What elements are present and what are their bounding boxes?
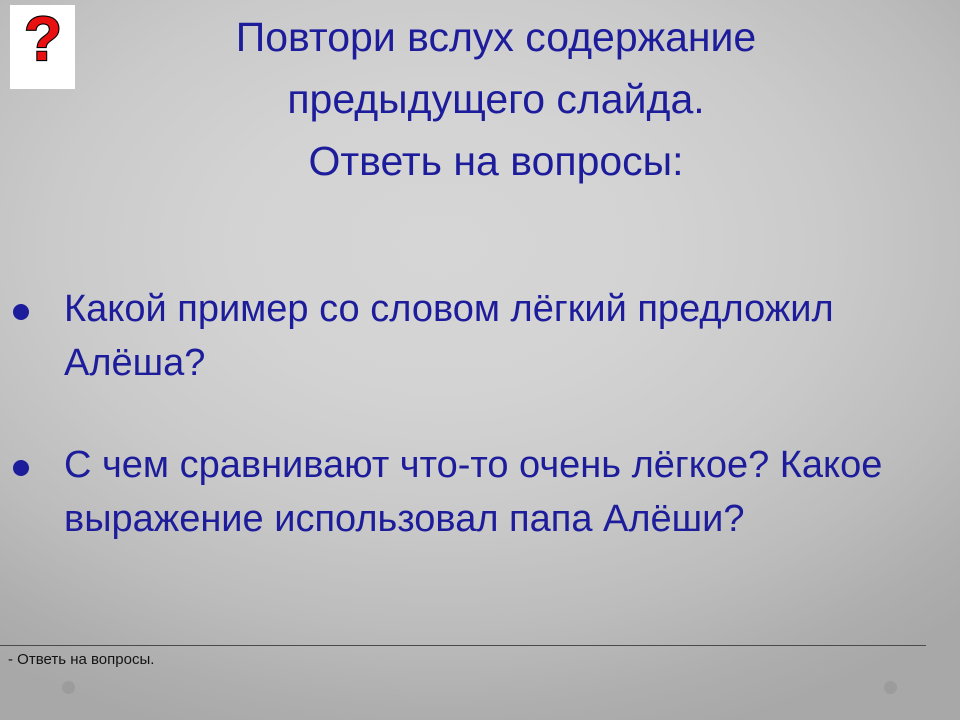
question-mark-image: ? [10, 5, 75, 89]
title-line-3: Ответь на вопросы: [96, 130, 896, 192]
slide-title: Повтори вслух содержание предыдущего сла… [96, 6, 896, 192]
footer-note: - Ответь на вопросы. [8, 650, 154, 670]
bullet-marker-icon [13, 304, 29, 320]
title-line-2: предыдущего слайда. [96, 68, 896, 130]
question-text-2: С чем сравнивают что-то очень лёгкое? Ка… [64, 438, 936, 546]
svg-text:?: ? [24, 10, 62, 74]
question-text-1: Какой пример со словом лёгкий предложил … [64, 282, 936, 390]
question-list: Какой пример со словом лёгкий предложил … [0, 282, 960, 594]
decorative-dot-left [62, 681, 75, 694]
bullet-marker-icon [13, 460, 29, 476]
decorative-dot-right [884, 681, 897, 694]
footer-divider [0, 645, 926, 646]
question-mark-icon: ? [17, 10, 69, 84]
slide-canvas: ? Повтори вслух содержание предыдущего с… [0, 0, 960, 720]
title-line-1: Повтори вслух содержание [96, 6, 896, 68]
list-item: Какой пример со словом лёгкий предложил … [0, 282, 960, 390]
list-item: С чем сравнивают что-то очень лёгкое? Ка… [0, 438, 960, 546]
